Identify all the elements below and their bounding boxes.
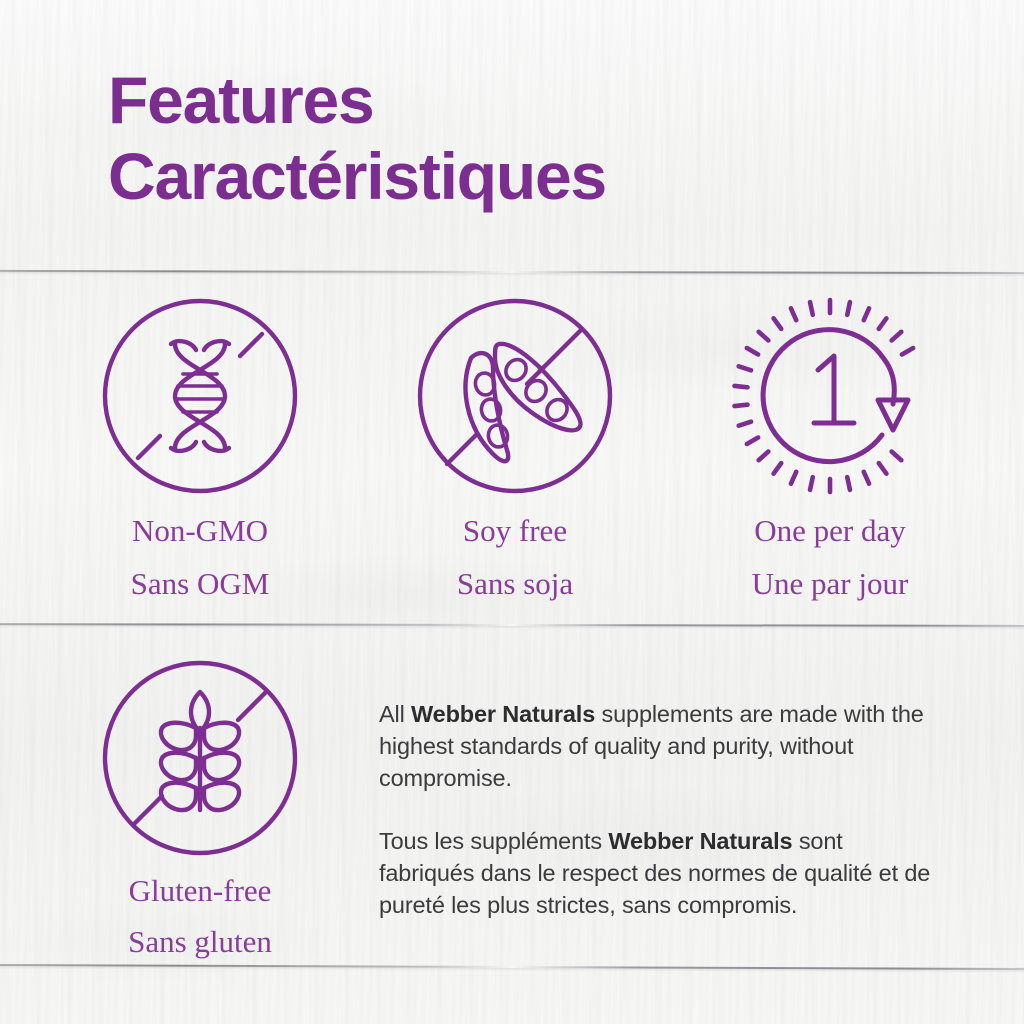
description-text-block: All Webber Naturals supplements are made… <box>379 698 939 921</box>
wheat-stalk-no-symbol-icon <box>100 658 300 858</box>
brand-name-french: Webber Naturals <box>608 828 792 854</box>
page-title-french: Caractéristiques <box>108 138 606 214</box>
feature-soy-free: Soy free Sans soja <box>355 296 675 602</box>
para-en-before-brand: All <box>379 701 411 727</box>
dna-no-symbol-icon <box>100 296 300 496</box>
circular-arrow-number-one-icon <box>730 296 930 496</box>
feature-label-english: Soy free <box>355 512 675 549</box>
description-paragraph-french: Tous les suppléments Webber Naturals son… <box>379 825 939 921</box>
brand-name-english: Webber Naturals <box>411 701 595 727</box>
description-paragraph-english: All Webber Naturals supplements are made… <box>379 698 939 794</box>
feature-label-french: Sans soja <box>355 565 675 602</box>
feature-label-french: Sans gluten <box>40 923 360 960</box>
feature-non-gmo: Non-GMO Sans OGM <box>40 296 360 602</box>
feature-label-english: One per day <box>670 512 990 549</box>
soybean-pods-no-symbol-icon <box>415 296 615 496</box>
para-fr-before-brand: Tous les suppléments <box>379 828 608 854</box>
feature-label-english: Gluten-free <box>40 872 360 909</box>
feature-gluten-free: Gluten-free Sans gluten <box>40 658 360 960</box>
page-title-english: Features <box>108 62 606 138</box>
feature-label-french: Sans OGM <box>40 565 360 602</box>
feature-one-per-day: One per day Une par jour <box>670 296 990 602</box>
feature-label-french: Une par jour <box>670 565 990 602</box>
page-title: Features Caractéristiques <box>108 62 606 214</box>
feature-label-english: Non-GMO <box>40 512 360 549</box>
